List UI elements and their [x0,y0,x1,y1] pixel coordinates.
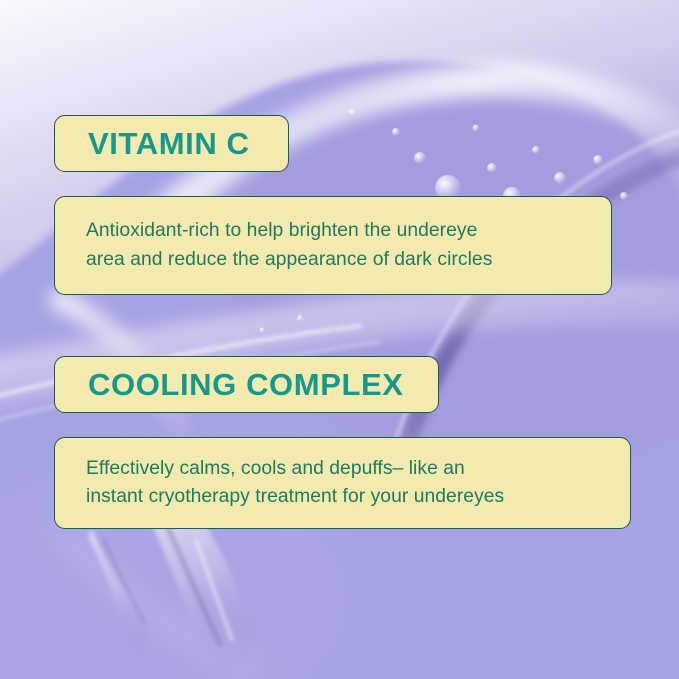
body-card-vitamin-c: Antioxidant-rich to help brighten the un… [54,196,612,295]
heading-text-vitamin-c: VITAMIN C [88,128,250,159]
body-line: area and reduce the appearance of dark c… [86,246,492,274]
body-line: Effectively calms, cools and depuffs– li… [86,455,504,483]
heading-text-cooling-complex: COOLING COMPLEX [88,369,404,400]
ingredient-callout-graphic: VITAMIN C Antioxidant-rich to help brigh… [0,0,679,679]
heading-pill-cooling-complex: COOLING COMPLEX [54,356,439,413]
body-line: instant cryotherapy treatment for your u… [86,483,504,511]
body-line: Antioxidant-rich to help brighten the un… [86,217,492,245]
heading-pill-vitamin-c: VITAMIN C [54,115,289,172]
body-text-cooling-complex: Effectively calms, cools and depuffs– li… [86,455,504,512]
body-card-cooling-complex: Effectively calms, cools and depuffs– li… [54,437,631,529]
body-text-vitamin-c: Antioxidant-rich to help brighten the un… [86,217,492,274]
